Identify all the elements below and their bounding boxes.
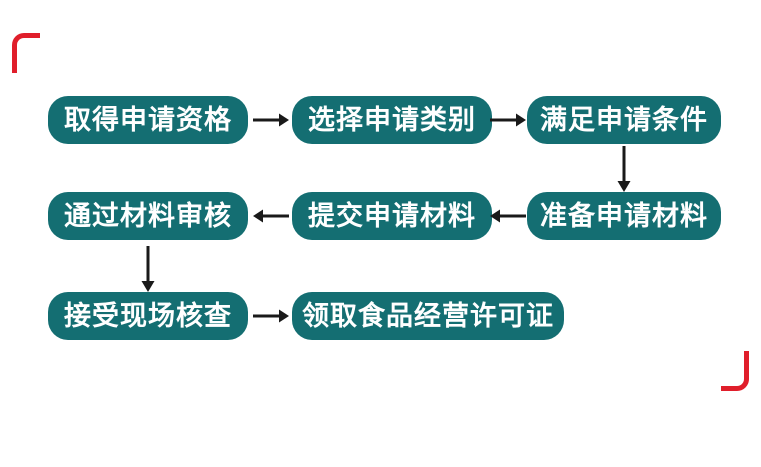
flow-node-label: 领取食品经营许可证 bbox=[302, 303, 554, 330]
flow-node-obtain-qualification[interactable]: 取得申请资格 bbox=[48, 96, 248, 144]
arrow-right-icon-r3-1 bbox=[253, 307, 289, 325]
arrow-right-icon-r1-1 bbox=[253, 111, 289, 129]
flow-node-label: 取得申请资格 bbox=[64, 107, 232, 134]
flow-node-pass-material-review[interactable]: 通过材料审核 bbox=[48, 192, 248, 240]
arrow-down-icon-right bbox=[615, 146, 633, 192]
flow-node-label: 提交申请材料 bbox=[308, 203, 476, 230]
corner-bracket-bottom-right-icon bbox=[721, 351, 749, 391]
flow-node-label: 选择申请类别 bbox=[308, 107, 476, 134]
flow-node-label: 满足申请条件 bbox=[540, 107, 708, 134]
corner-bracket-top-left-icon bbox=[12, 33, 40, 73]
arrow-left-icon-r2-2 bbox=[490, 207, 526, 225]
arrow-left-icon-r2-1 bbox=[253, 207, 289, 225]
arrow-down-icon-left bbox=[139, 246, 157, 292]
flow-node-label: 准备申请材料 bbox=[540, 203, 708, 230]
flow-node-label: 通过材料审核 bbox=[64, 203, 232, 230]
arrow-right-icon-r1-2 bbox=[490, 111, 526, 129]
flow-node-accept-onsite-inspection[interactable]: 接受现场核查 bbox=[48, 292, 248, 340]
flow-node-label: 接受现场核查 bbox=[64, 303, 232, 330]
flow-node-submit-materials[interactable]: 提交申请材料 bbox=[292, 192, 492, 240]
flow-node-prepare-materials[interactable]: 准备申请材料 bbox=[527, 192, 721, 240]
flow-node-meet-conditions[interactable]: 满足申请条件 bbox=[527, 96, 721, 144]
flowchart-canvas: 取得申请资格 选择申请类别 满足申请条件 通过材料审核 bbox=[0, 0, 761, 467]
flow-node-choose-category[interactable]: 选择申请类别 bbox=[292, 96, 492, 144]
flow-node-receive-license[interactable]: 领取食品经营许可证 bbox=[292, 292, 564, 340]
